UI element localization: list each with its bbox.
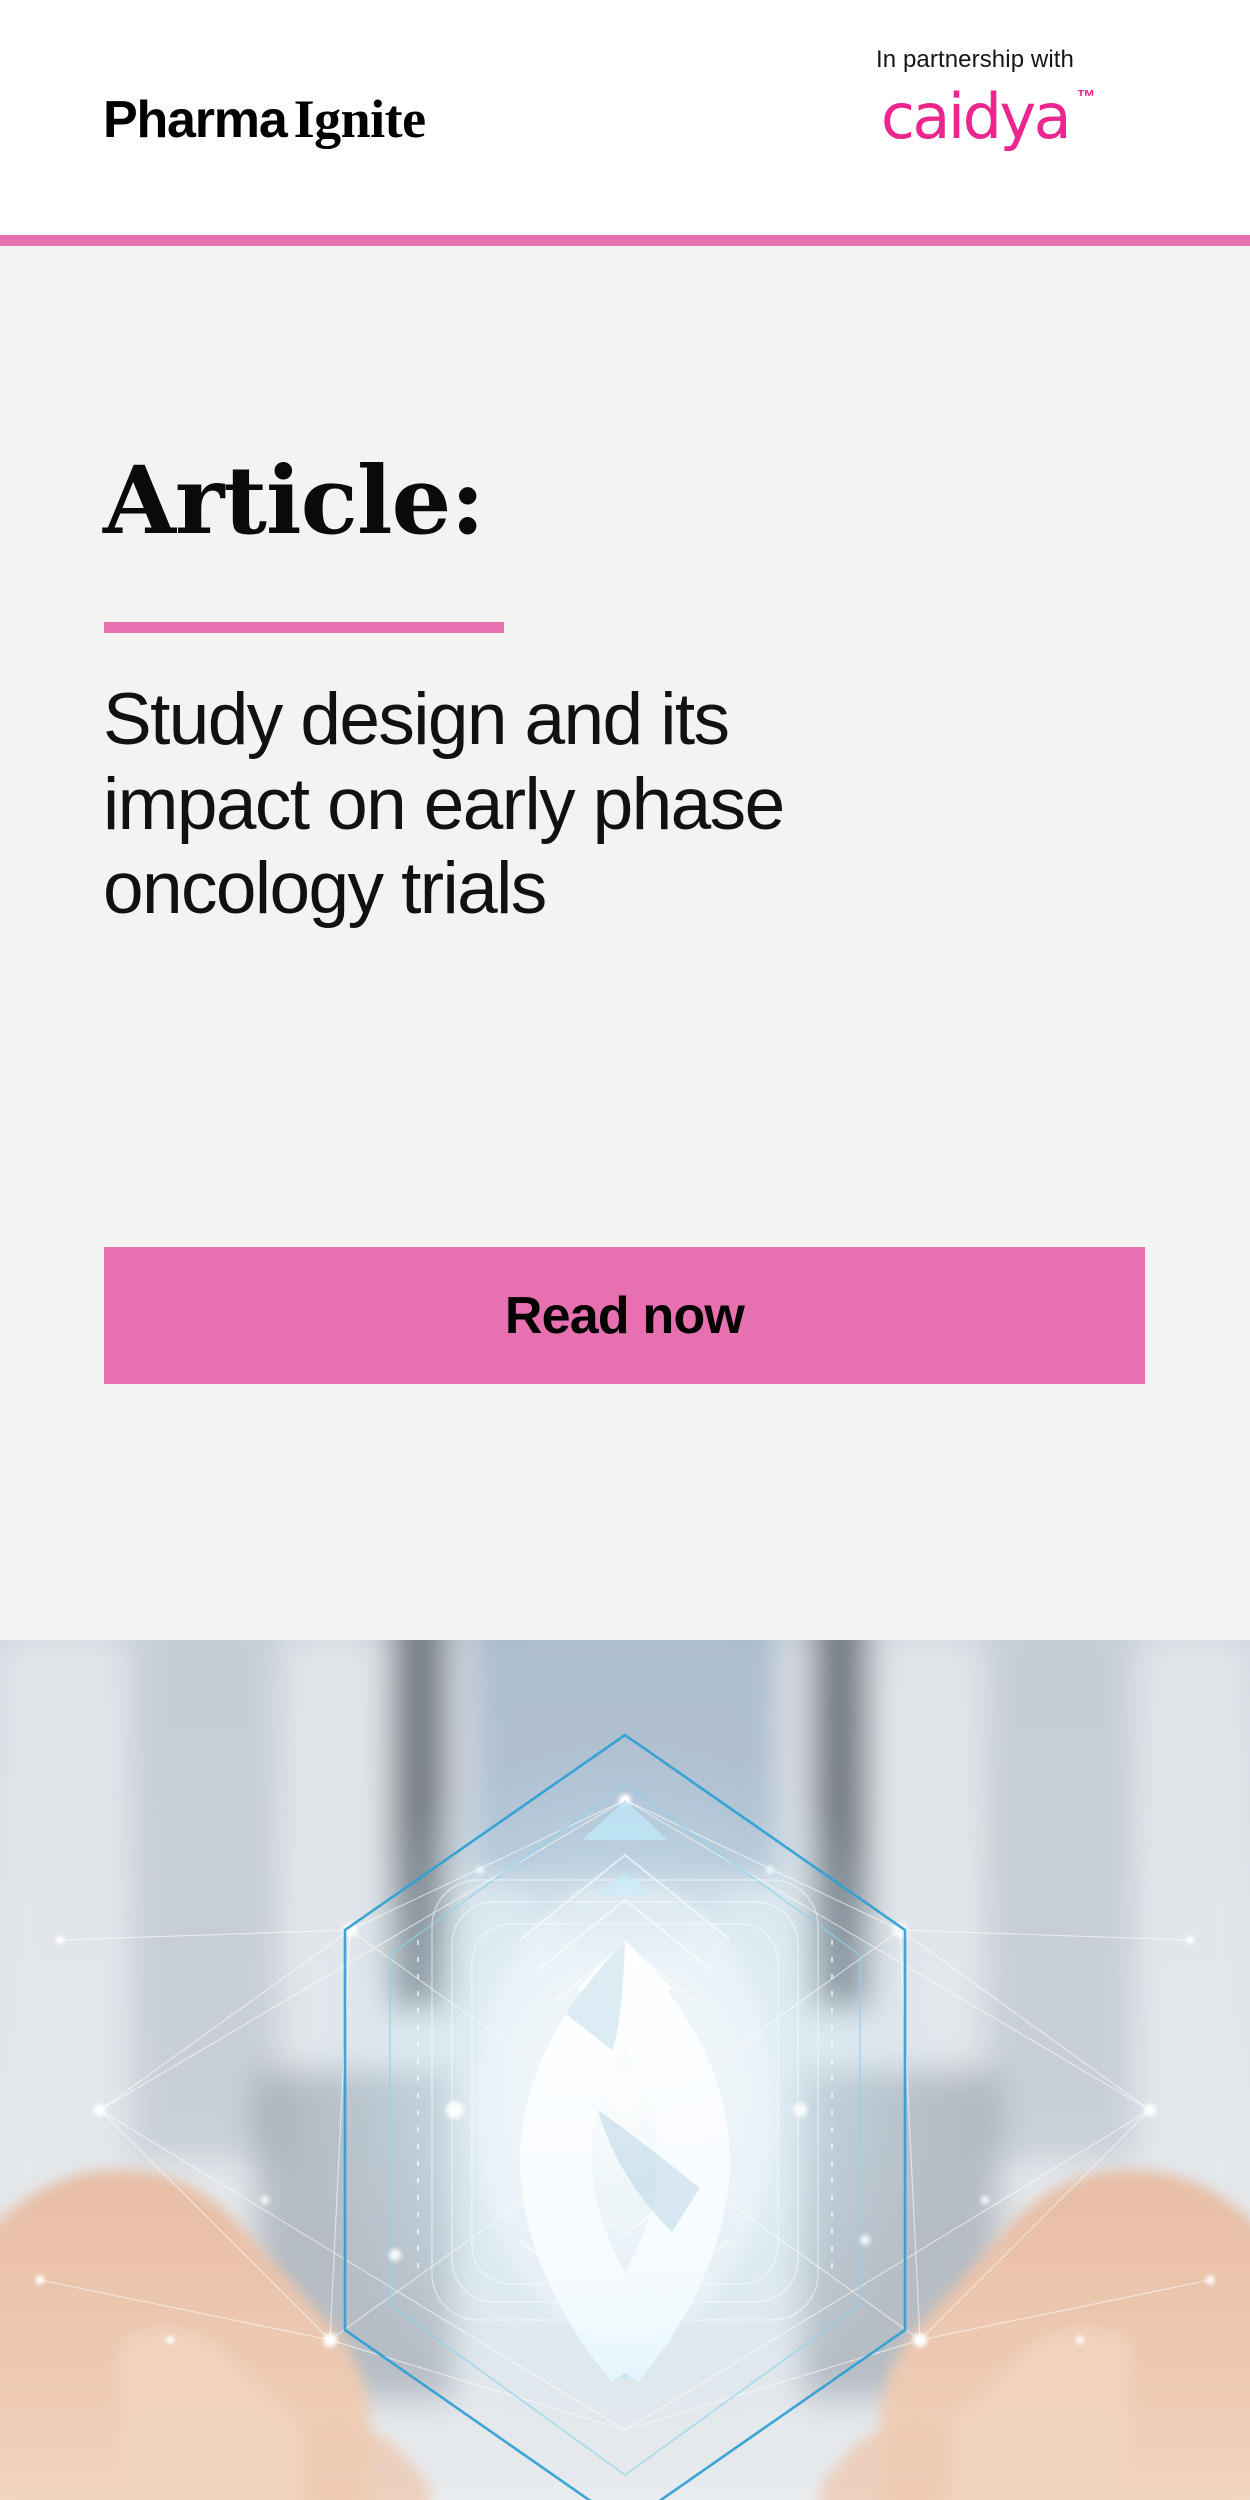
- read-now-button[interactable]: Read now: [104, 1247, 1145, 1384]
- caidya-wordmark: caidya: [881, 86, 1069, 148]
- page-header: PharmaIgnite In partnership with caidya …: [0, 0, 1250, 235]
- caidya-logo[interactable]: caidya ™: [881, 86, 1069, 148]
- hero-image: [0, 1640, 1250, 2500]
- read-now-label: Read now: [505, 1290, 744, 1342]
- page-title: Study design and its impact on early pha…: [103, 678, 1113, 932]
- hero-illustration: [0, 1640, 1250, 2500]
- article-kicker: Article:: [103, 454, 484, 548]
- pharma-ignite-logo[interactable]: PharmaIgnite: [103, 92, 426, 146]
- partnership-block: In partnership with caidya ™: [815, 48, 1135, 148]
- header-divider: [0, 235, 1250, 246]
- headline-line-3: oncology trials: [103, 847, 1113, 932]
- headline-line-2: impact on early phase: [103, 763, 1113, 848]
- kicker-underline: [104, 622, 504, 633]
- partnership-label: In partnership with: [815, 48, 1135, 72]
- trademark-icon: ™: [1077, 88, 1096, 107]
- promo-content-panel: Article: Study design and its impact on …: [0, 246, 1250, 1640]
- headline-line-1: Study design and its: [103, 678, 1113, 763]
- promo-page: PharmaIgnite In partnership with caidya …: [0, 0, 1250, 2500]
- brand-word-pharma: Pharma: [103, 91, 287, 149]
- brand-word-ignite: Ignite: [294, 89, 426, 149]
